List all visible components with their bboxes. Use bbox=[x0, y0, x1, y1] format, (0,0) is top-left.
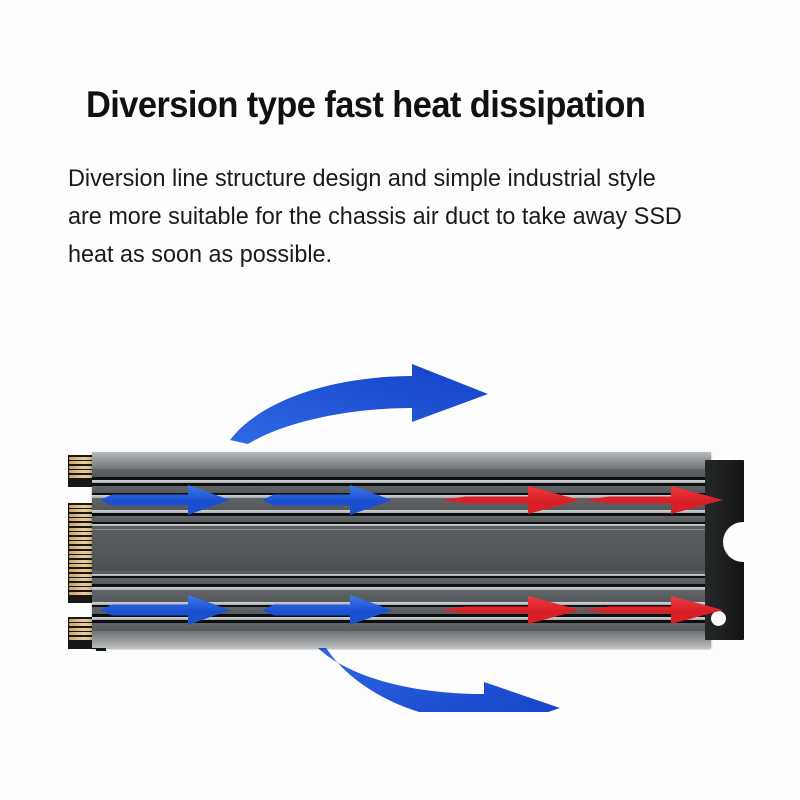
heatsink-center-panel bbox=[92, 529, 711, 573]
cool-air-arrow-lower-channel bbox=[262, 593, 392, 627]
description-line-1: Diversion line structure design and simp… bbox=[68, 160, 710, 198]
hot-air-arrow-lower-channel bbox=[440, 593, 580, 627]
top-duct-arrow bbox=[226, 364, 496, 444]
heatsink-top-rail bbox=[92, 452, 711, 469]
cool-air-arrow-upper-channel bbox=[262, 483, 392, 517]
marketing-slide: Diversion type fast heat dissipation Div… bbox=[0, 0, 800, 800]
description-line-3: heat as soon as possible. bbox=[68, 236, 710, 274]
page-title: Diversion type fast heat dissipation bbox=[86, 84, 700, 126]
mounting-tab-notch bbox=[723, 522, 745, 562]
description-line-2: are more suitable for the chassis air du… bbox=[68, 198, 710, 236]
description-paragraph: Diversion line structure design and simp… bbox=[68, 160, 710, 274]
heatsink-bottom-rail bbox=[92, 631, 711, 648]
cool-air-arrow-upper-channel bbox=[100, 483, 230, 517]
hot-air-arrow-upper-channel bbox=[583, 483, 723, 517]
product-illustration bbox=[0, 340, 800, 740]
hot-air-arrow-lower-channel bbox=[583, 593, 723, 627]
cool-air-arrow-lower-channel bbox=[100, 593, 230, 627]
hot-air-arrow-upper-channel bbox=[440, 483, 580, 517]
